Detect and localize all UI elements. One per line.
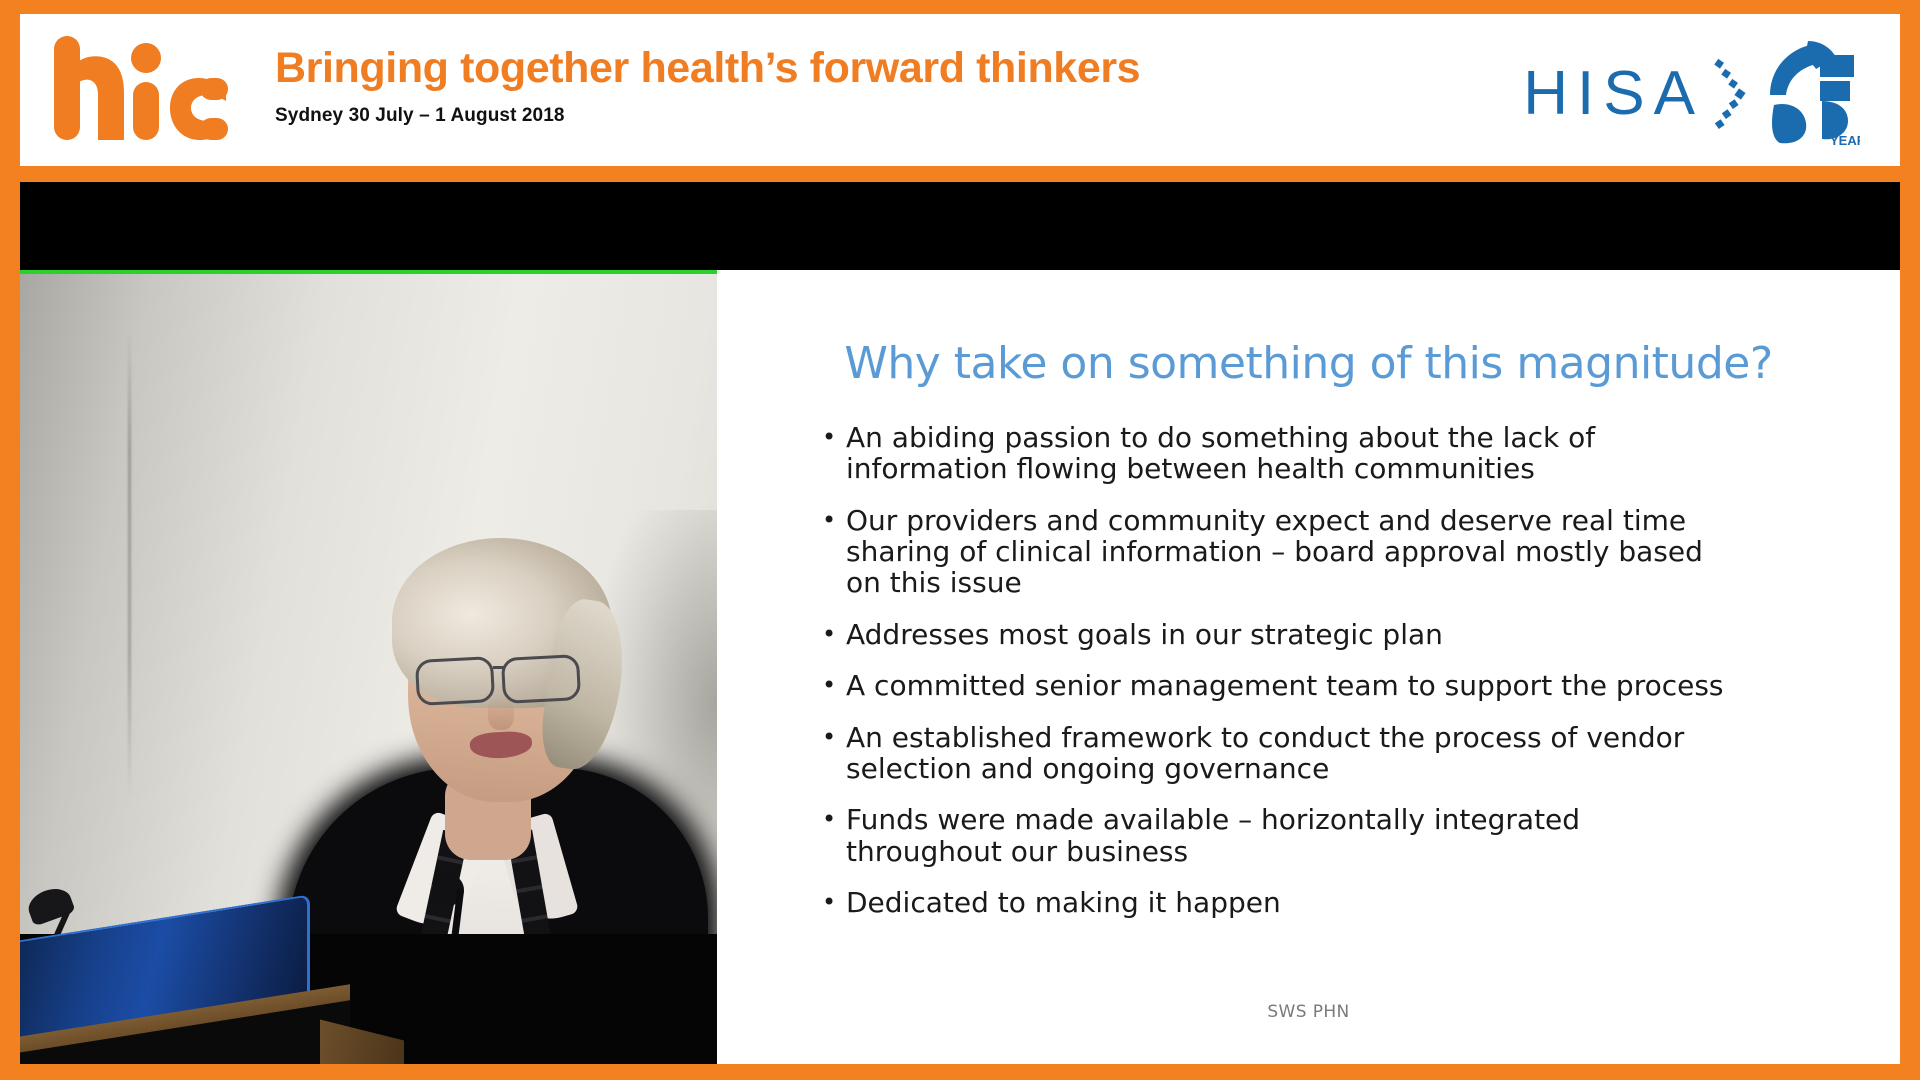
bullet-marker-icon: • <box>822 670 846 701</box>
slide-bullet-line: Addresses most goals in our strategic pl… <box>846 619 1822 650</box>
slide-bullet-item: •Our providers and community expect and … <box>822 505 1822 599</box>
slide-bullet-text: Our providers and community expect and d… <box>846 505 1822 599</box>
speaker-nose <box>488 696 514 730</box>
presenter-video[interactable]: TERNATIONAL NVENTION <box>20 270 717 1064</box>
slide-bullet-line: information flowing between health commu… <box>846 453 1822 484</box>
slide-bullet-item: •Funds were made available – horizontall… <box>822 804 1822 867</box>
slide-bullet-line: A committed senior management team to su… <box>846 670 1822 701</box>
event-banner: Bringing together health’s forward think… <box>20 14 1900 166</box>
slide-title: Why take on something of this magnitude? <box>717 338 1900 389</box>
anniversary-25-years-icon: YEARS <box>1764 39 1860 147</box>
bullet-marker-icon: • <box>822 887 846 918</box>
banner-title: Bringing together health’s forward think… <box>275 44 1325 93</box>
banner-text-block: Bringing together health’s forward think… <box>275 44 1325 127</box>
hisa-logo-group: HISA <box>1523 38 1860 148</box>
presentation-frame: Bringing together health’s forward think… <box>0 0 1920 1080</box>
video-top-marker <box>20 270 717 274</box>
hic-logo <box>50 22 230 154</box>
slide-bullet-line: An established framework to conduct the … <box>846 722 1822 753</box>
hisa-wordmark: HISA <box>1523 58 1704 129</box>
slide-bullet-line: Our providers and community expect and d… <box>846 505 1822 536</box>
slide-bullet-line: selection and ongoing governance <box>846 753 1822 784</box>
slide-bullet-text: Funds were made available – horizontally… <box>846 804 1822 867</box>
slide-bullet-item: •Dedicated to making it happen <box>822 887 1822 918</box>
recording-stage: TERNATIONAL NVENTION Why take on somethi… <box>20 182 1900 1064</box>
bullet-marker-icon: • <box>822 619 846 650</box>
anniversary-years-label: YEARS <box>1830 133 1860 147</box>
slide-bullet-text: An established framework to conduct the … <box>846 722 1822 785</box>
slide-bullet-item: •An abiding passion to do something abou… <box>822 422 1822 485</box>
bullet-marker-icon: • <box>822 722 846 785</box>
slide-bullet-text: Addresses most goals in our strategic pl… <box>846 619 1822 650</box>
banner-subtitle: Sydney 30 July – 1 August 2018 <box>275 105 1325 127</box>
slide-bullet-text: Dedicated to making it happen <box>846 887 1822 918</box>
chevron-right-icon <box>1714 50 1754 136</box>
slide-bullet-line: throughout our business <box>846 836 1822 867</box>
slide-bullet-text: A committed senior management team to su… <box>846 670 1822 701</box>
speaker-glasses-bridge <box>493 666 505 669</box>
slide-bullet-list: •An abiding passion to do something abou… <box>822 422 1822 938</box>
speaker-glasses-left-lens <box>415 656 495 706</box>
bullet-marker-icon: • <box>822 505 846 599</box>
bullet-marker-icon: • <box>822 804 846 867</box>
slide-bullet-text: An abiding passion to do something about… <box>846 422 1822 485</box>
slide-bullet-line: sharing of clinical information – board … <box>846 536 1822 567</box>
speaker-glasses-right-lens <box>501 654 581 704</box>
slide-bullet-item: •A committed senior management team to s… <box>822 670 1822 701</box>
slide-bullet-line: on this issue <box>846 567 1822 598</box>
wall-seam <box>128 330 131 800</box>
bullet-marker-icon: • <box>822 422 846 485</box>
slide-bullet-item: •Addresses most goals in our strategic p… <box>822 619 1822 650</box>
slide-bullet-line: Funds were made available – horizontally… <box>846 804 1822 835</box>
slide-bullet-line: Dedicated to making it happen <box>846 887 1822 918</box>
slide-panel: Why take on something of this magnitude?… <box>717 270 1900 1064</box>
slide-bullet-line: An abiding passion to do something about… <box>846 422 1822 453</box>
slide-bullet-item: •An established framework to conduct the… <box>822 722 1822 785</box>
slide-footer-attribution: SWS PHN <box>717 1002 1900 1022</box>
